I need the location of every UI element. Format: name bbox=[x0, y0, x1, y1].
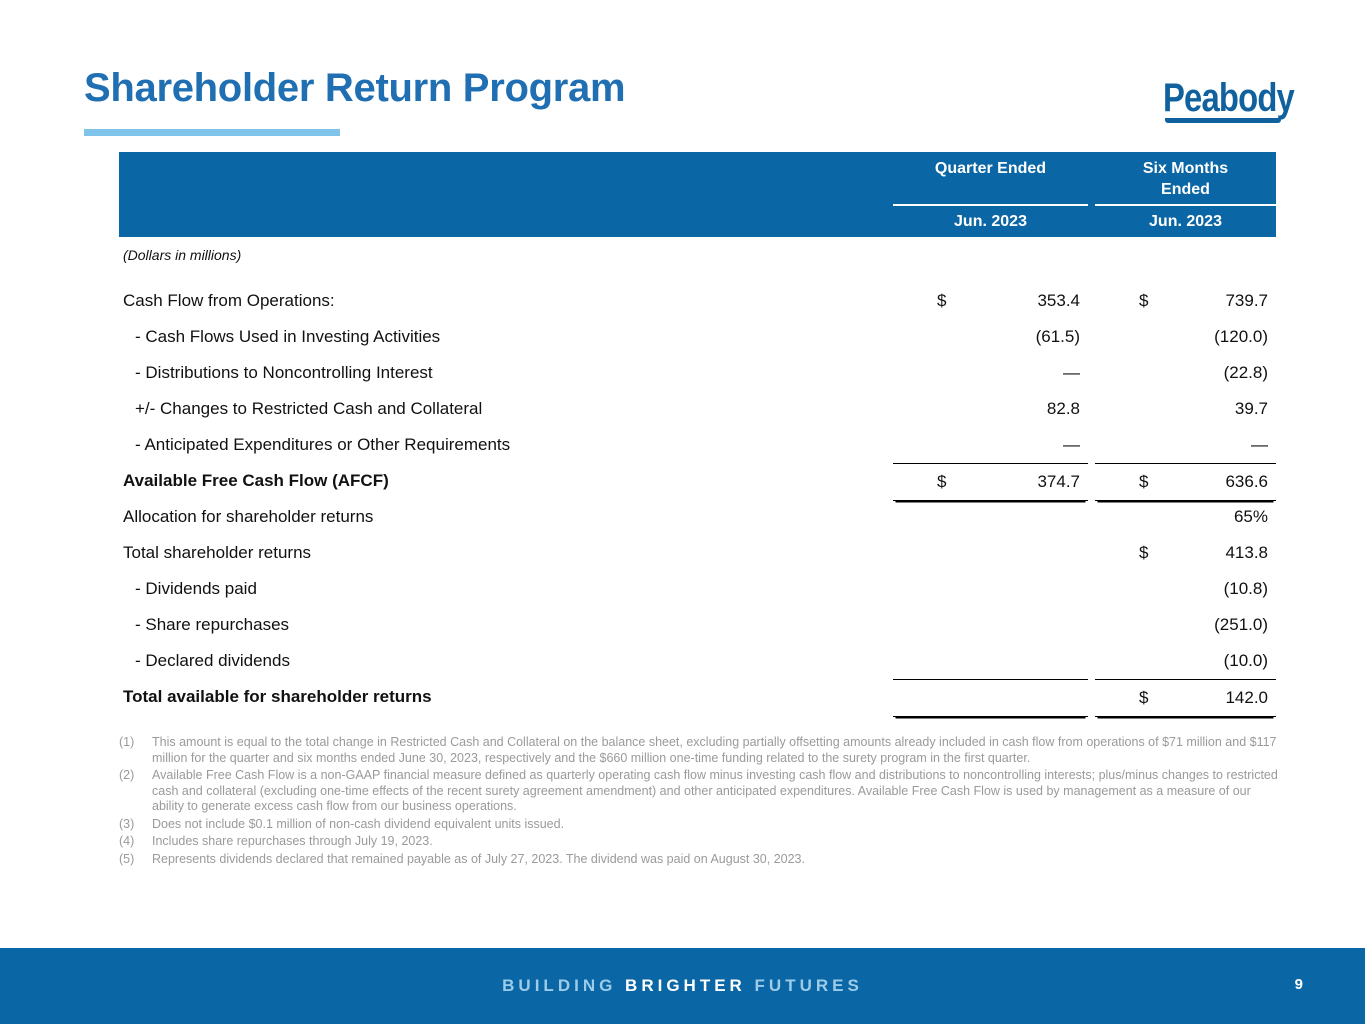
cell-quarter: — bbox=[893, 355, 1088, 391]
table-row: Total shareholder returns$413.8 bbox=[119, 535, 1276, 571]
cell-quarter bbox=[893, 643, 1088, 679]
footnote-text: Includes share repurchases through July … bbox=[152, 834, 433, 848]
tagline-futures: FUTURES bbox=[746, 976, 863, 995]
cell-quarter bbox=[893, 607, 1088, 643]
table-row: - Distributions to Noncontrolling Intere… bbox=[119, 355, 1276, 391]
cell-quarter bbox=[893, 679, 1088, 717]
cell-six-months: $739.7 bbox=[1095, 283, 1276, 319]
cell-value: 65% bbox=[1234, 499, 1268, 535]
column-header-line2: Ended bbox=[1095, 179, 1276, 200]
logo-wordmark: Peabody bbox=[1163, 78, 1270, 118]
table-row: - Declared dividends(10.0) bbox=[119, 643, 1276, 679]
currency-symbol: $ bbox=[1139, 680, 1148, 716]
column-period-six-months: Jun. 2023 bbox=[1095, 208, 1276, 236]
row-label: +/- Changes to Restricted Cash and Colla… bbox=[135, 391, 482, 427]
units-note: (Dollars in millions) bbox=[123, 247, 241, 263]
slide-footer-bar: BUILDING BRIGHTER FUTURES 9 bbox=[0, 948, 1365, 1024]
footnote-number: (2) bbox=[119, 768, 145, 784]
footnote-item: (3)Does not include $0.1 million of non-… bbox=[119, 817, 1284, 833]
footnote-number: (3) bbox=[119, 817, 145, 833]
header-divider-col2 bbox=[1095, 204, 1276, 206]
footnote-text: Represents dividends declared that remai… bbox=[152, 852, 805, 866]
table-row: - Share repurchases(251.0) bbox=[119, 607, 1276, 643]
cell-value: 413.8 bbox=[1225, 535, 1268, 571]
footnote-number: (1) bbox=[119, 735, 145, 751]
row-label: Available Free Cash Flow (AFCF) bbox=[123, 463, 389, 499]
cell-six-months: $636.6 bbox=[1095, 463, 1276, 501]
cell-value: (61.5) bbox=[1036, 319, 1080, 355]
cell-value: 82.8 bbox=[1047, 391, 1080, 427]
column-header-six-months-ended: Six Months Ended bbox=[1095, 158, 1276, 200]
row-label: - Declared dividends bbox=[135, 643, 290, 679]
footnote-number: (5) bbox=[119, 852, 145, 868]
table-row: Cash Flow from Operations:$353.4$739.7 bbox=[119, 283, 1276, 319]
footnotes-list: (1)This amount is equal to the total cha… bbox=[119, 735, 1284, 869]
row-label: - Anticipated Expenditures or Other Requ… bbox=[135, 427, 510, 463]
tagline-building: BUILDING bbox=[502, 976, 625, 995]
cell-six-months: (10.0) bbox=[1095, 643, 1276, 679]
table-row: Total available for shareholder returns$… bbox=[119, 679, 1276, 715]
cell-value: — bbox=[1251, 427, 1268, 463]
column-header-quarter-ended: Quarter Ended bbox=[893, 158, 1088, 179]
cell-value: (10.0) bbox=[1224, 643, 1268, 679]
cell-value: (120.0) bbox=[1214, 319, 1268, 355]
cell-value: (22.8) bbox=[1224, 355, 1268, 391]
row-label: Cash Flow from Operations: bbox=[123, 283, 335, 319]
cell-quarter bbox=[893, 571, 1088, 607]
footnote-item: (5)Represents dividends declared that re… bbox=[119, 852, 1284, 868]
cell-six-months: (22.8) bbox=[1095, 355, 1276, 391]
row-label: Allocation for shareholder returns bbox=[123, 499, 373, 535]
table-row: - Anticipated Expenditures or Other Requ… bbox=[119, 427, 1276, 463]
footnote-text: This amount is equal to the total change… bbox=[152, 735, 1277, 765]
cell-quarter: $353.4 bbox=[893, 283, 1088, 319]
footnote-item: (4)Includes share repurchases through Ju… bbox=[119, 834, 1284, 850]
table-row: - Cash Flows Used in Investing Activitie… bbox=[119, 319, 1276, 355]
currency-symbol: $ bbox=[1139, 535, 1148, 571]
tagline-brighter: BRIGHTER bbox=[625, 976, 746, 995]
cell-value: 636.6 bbox=[1225, 464, 1268, 500]
currency-symbol: $ bbox=[1139, 464, 1148, 500]
currency-symbol: $ bbox=[1139, 283, 1148, 319]
title-underline-accent bbox=[84, 129, 340, 136]
footnote-item: (1)This amount is equal to the total cha… bbox=[119, 735, 1284, 766]
row-label: - Share repurchases bbox=[135, 607, 289, 643]
shareholder-return-table: Quarter Ended Six Months Ended Jun. 2023… bbox=[119, 152, 1276, 237]
cell-six-months: 39.7 bbox=[1095, 391, 1276, 427]
cell-quarter bbox=[893, 499, 1088, 535]
cell-six-months: (120.0) bbox=[1095, 319, 1276, 355]
page-number: 9 bbox=[1295, 976, 1303, 993]
column-period-quarter: Jun. 2023 bbox=[893, 208, 1088, 236]
cell-value: 39.7 bbox=[1235, 391, 1268, 427]
footnote-number: (4) bbox=[119, 834, 145, 850]
footnote-item: (2)Available Free Cash Flow is a non-GAA… bbox=[119, 768, 1284, 815]
currency-symbol: $ bbox=[937, 283, 946, 319]
cell-six-months: (10.8) bbox=[1095, 571, 1276, 607]
cell-six-months: $142.0 bbox=[1095, 679, 1276, 717]
row-label: Total shareholder returns bbox=[123, 535, 311, 571]
row-label: Total available for shareholder returns bbox=[123, 679, 432, 715]
table-row: +/- Changes to Restricted Cash and Colla… bbox=[119, 391, 1276, 427]
cell-value: (251.0) bbox=[1214, 607, 1268, 643]
cell-value: (10.8) bbox=[1224, 571, 1268, 607]
header-divider-col1 bbox=[893, 204, 1088, 206]
row-label: - Cash Flows Used in Investing Activitie… bbox=[135, 319, 440, 355]
cell-quarter: 82.8 bbox=[893, 391, 1088, 427]
table-header: Quarter Ended Six Months Ended Jun. 2023… bbox=[119, 152, 1276, 237]
cell-quarter: $374.7 bbox=[893, 463, 1088, 501]
cell-value: — bbox=[1063, 355, 1080, 391]
table-row: Allocation for shareholder returns65% bbox=[119, 499, 1276, 535]
footnote-text: Does not include $0.1 million of non-cas… bbox=[152, 817, 564, 831]
peabody-logo: Peabody bbox=[1163, 78, 1293, 124]
cell-quarter bbox=[893, 535, 1088, 571]
cell-quarter: (61.5) bbox=[893, 319, 1088, 355]
cell-value: 353.4 bbox=[1037, 283, 1080, 319]
currency-symbol: $ bbox=[937, 464, 946, 500]
table-body: Cash Flow from Operations:$353.4$739.7- … bbox=[119, 283, 1276, 715]
page-title: Shareholder Return Program bbox=[84, 66, 625, 111]
cell-six-months: 65% bbox=[1095, 499, 1276, 535]
cell-value: 739.7 bbox=[1225, 283, 1268, 319]
row-label: - Distributions to Noncontrolling Intere… bbox=[135, 355, 433, 391]
footnote-text: Available Free Cash Flow is a non-GAAP f… bbox=[152, 768, 1278, 813]
cell-six-months: $413.8 bbox=[1095, 535, 1276, 571]
cell-quarter: — bbox=[893, 427, 1088, 463]
cell-value: — bbox=[1063, 427, 1080, 463]
cell-value: 142.0 bbox=[1225, 680, 1268, 716]
cell-six-months: — bbox=[1095, 427, 1276, 463]
logo-underline-icon bbox=[1165, 118, 1281, 123]
cell-value: 374.7 bbox=[1037, 464, 1080, 500]
row-label: - Dividends paid bbox=[135, 571, 257, 607]
footer-tagline: BUILDING BRIGHTER FUTURES bbox=[0, 976, 1365, 996]
cell-six-months: (251.0) bbox=[1095, 607, 1276, 643]
table-row: Available Free Cash Flow (AFCF)$374.7$63… bbox=[119, 463, 1276, 499]
column-header-line1: Six Months bbox=[1095, 158, 1276, 179]
table-row: - Dividends paid(10.8) bbox=[119, 571, 1276, 607]
